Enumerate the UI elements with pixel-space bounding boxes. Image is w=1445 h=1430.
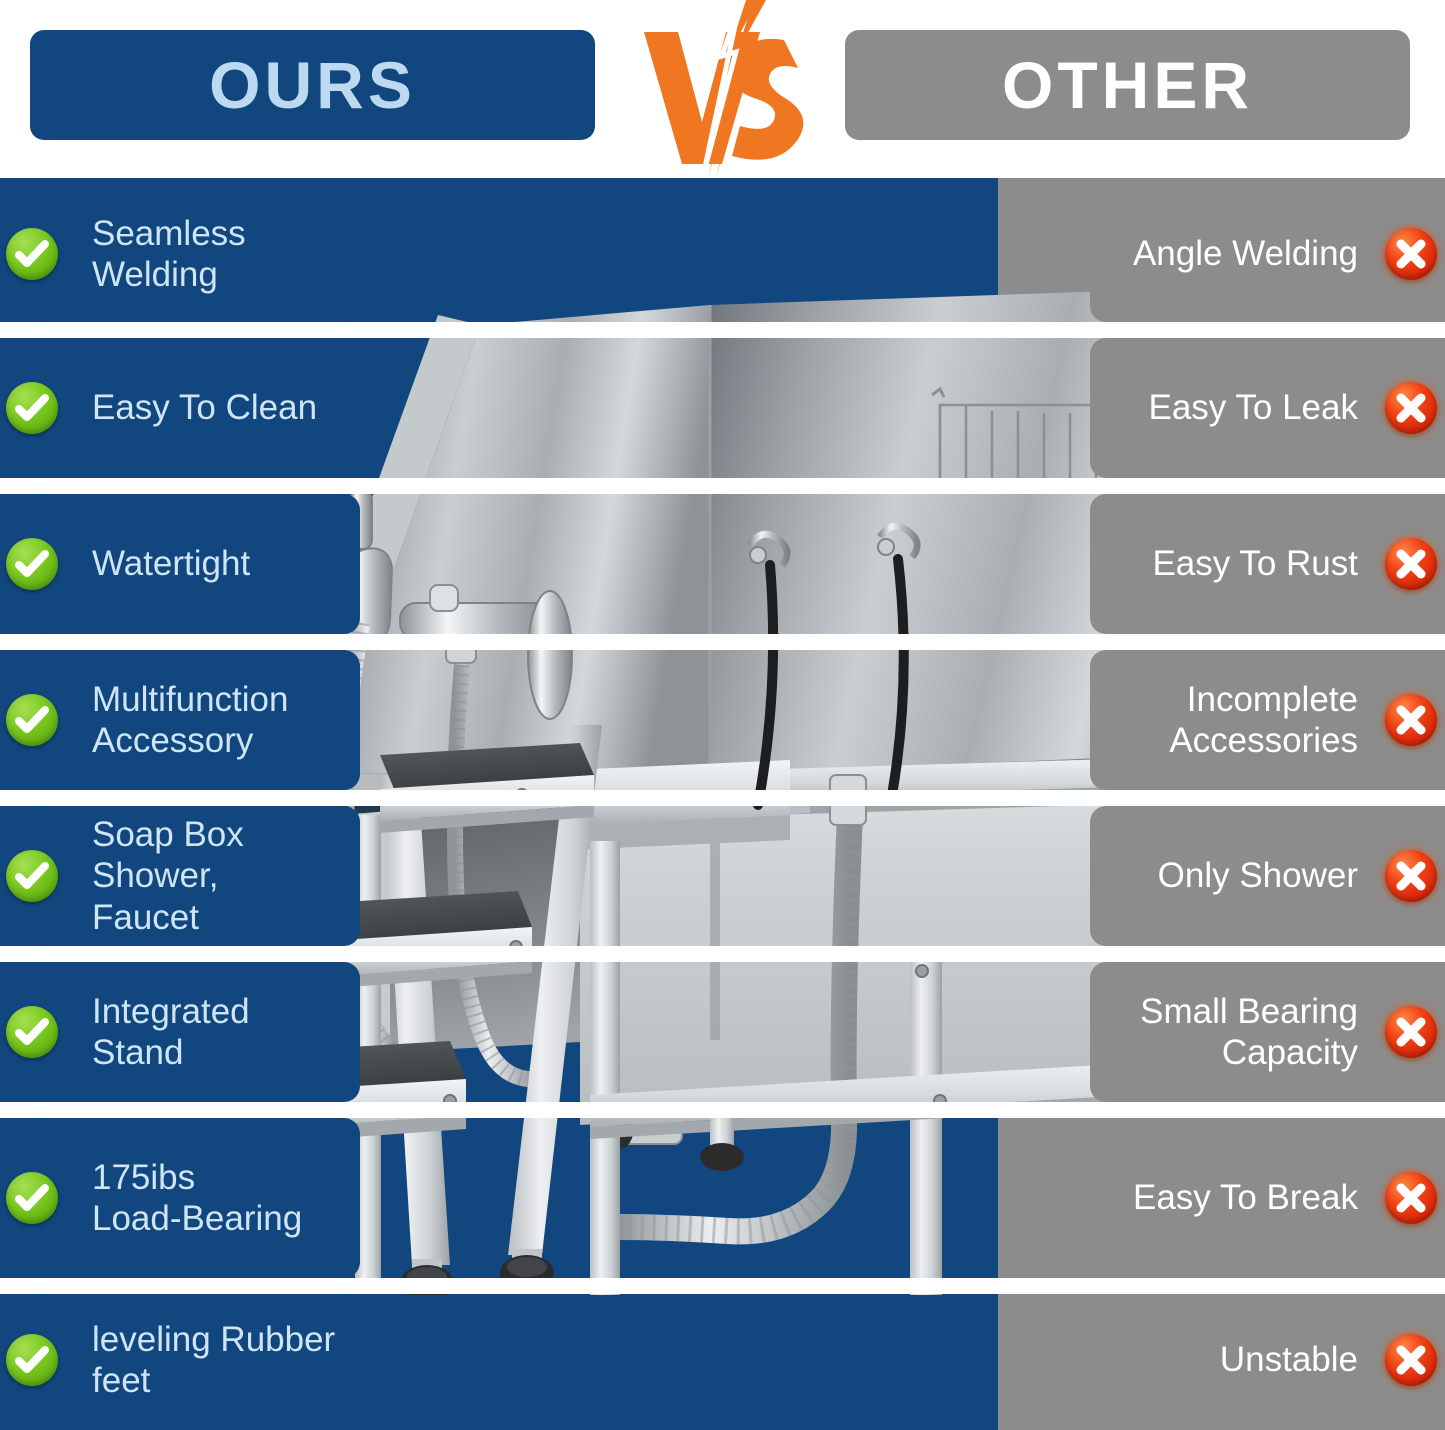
other-feature-pill[interactable]: Easy To Leak [1090, 338, 1420, 478]
header: OURS OTHER [0, 0, 1445, 178]
row-gap [0, 946, 1445, 962]
cross-circle-icon [1385, 228, 1437, 280]
other-feature-pill[interactable]: Unstable [1090, 1294, 1420, 1426]
other-feature-pill[interactable]: Only Shower [1090, 806, 1420, 946]
other-feature-pill[interactable]: Easy To Break [1090, 1118, 1420, 1278]
other-feature-pill[interactable]: Angle Welding [1090, 186, 1420, 322]
row-gap [0, 634, 1445, 650]
other-feature-label: Easy To Leak [1149, 387, 1359, 428]
other-header-label: OTHER [1002, 47, 1253, 123]
ours-feature-label: 175ibs Load-Bearing [92, 1157, 302, 1240]
cross-circle-icon [1385, 538, 1437, 590]
other-feature-label: Easy To Rust [1152, 543, 1358, 584]
comparison-row: Seamless Welding Angle Welding [0, 186, 1445, 322]
ours-feature-label: Multifunction Accessory [92, 679, 288, 762]
vs-logo-icon [630, 0, 820, 178]
ours-feature-label: Easy To Clean [92, 387, 317, 428]
ours-feature-label: Integrated Stand [92, 991, 250, 1074]
other-feature-label: Unstable [1220, 1339, 1358, 1380]
comparison-row: Easy To Clean Easy To Leak [0, 338, 1445, 478]
ours-feature-label: Soap Box Shower, Faucet [92, 814, 244, 938]
cross-circle-icon [1385, 694, 1437, 746]
ours-feature-pill[interactable]: Soap Box Shower, Faucet [30, 806, 360, 946]
ours-feature-label: leveling Rubber feet [92, 1319, 350, 1402]
other-feature-pill[interactable]: Small Bearing Capacity [1090, 962, 1420, 1102]
other-feature-label: Incomplete Accessories [1169, 679, 1358, 762]
comparison-row: leveling Rubber feet Unstable [0, 1294, 1445, 1426]
ours-feature-pill[interactable]: 175ibs Load-Bearing [30, 1118, 360, 1278]
row-gap [0, 790, 1445, 806]
check-circle-icon [6, 694, 58, 746]
check-circle-icon [6, 382, 58, 434]
comparison-row: Watertight Easy To Rust [0, 494, 1445, 634]
other-feature-pill[interactable]: Incomplete Accessories [1090, 650, 1420, 790]
check-circle-icon [6, 850, 58, 902]
cross-circle-icon [1385, 1172, 1437, 1224]
row-gap [0, 478, 1445, 494]
check-circle-icon [6, 228, 58, 280]
ours-feature-pill[interactable]: Watertight [30, 494, 360, 634]
comparison-row: Integrated Stand Small Bearing Capacity [0, 962, 1445, 1102]
other-feature-label: Angle Welding [1133, 233, 1358, 274]
row-gap [0, 1102, 1445, 1118]
other-feature-pill[interactable]: Easy To Rust [1090, 494, 1420, 634]
ours-feature-label: Seamless Welding [92, 213, 350, 296]
cross-circle-icon [1385, 382, 1437, 434]
ours-feature-pill[interactable]: Easy To Clean [30, 338, 360, 478]
other-feature-label: Only Shower [1158, 855, 1358, 896]
cross-circle-icon [1385, 850, 1437, 902]
ours-header-bar: OURS [30, 30, 595, 140]
ours-feature-pill[interactable]: Seamless Welding [30, 186, 360, 322]
other-header-bar: OTHER [845, 30, 1410, 140]
comparison-row: Soap Box Shower, Faucet Only Shower [0, 806, 1445, 946]
row-gap [0, 1278, 1445, 1294]
cross-circle-icon [1385, 1006, 1437, 1058]
comparison-row: 175ibs Load-Bearing Easy To Break [0, 1118, 1445, 1278]
other-feature-label: Easy To Break [1133, 1177, 1358, 1218]
check-circle-icon [6, 1172, 58, 1224]
cross-circle-icon [1385, 1334, 1437, 1386]
check-circle-icon [6, 1006, 58, 1058]
comparison-row: Multifunction Accessory Incomplete Acces… [0, 650, 1445, 790]
other-feature-label: Small Bearing Capacity [1140, 991, 1358, 1074]
ours-feature-pill[interactable]: Multifunction Accessory [30, 650, 360, 790]
ours-header-label: OURS [209, 47, 416, 123]
check-circle-icon [6, 538, 58, 590]
ours-feature-pill[interactable]: Integrated Stand [30, 962, 360, 1102]
ours-feature-pill[interactable]: leveling Rubber feet [30, 1294, 360, 1426]
row-gap [0, 322, 1445, 338]
check-circle-icon [6, 1334, 58, 1386]
ours-feature-label: Watertight [92, 543, 250, 584]
